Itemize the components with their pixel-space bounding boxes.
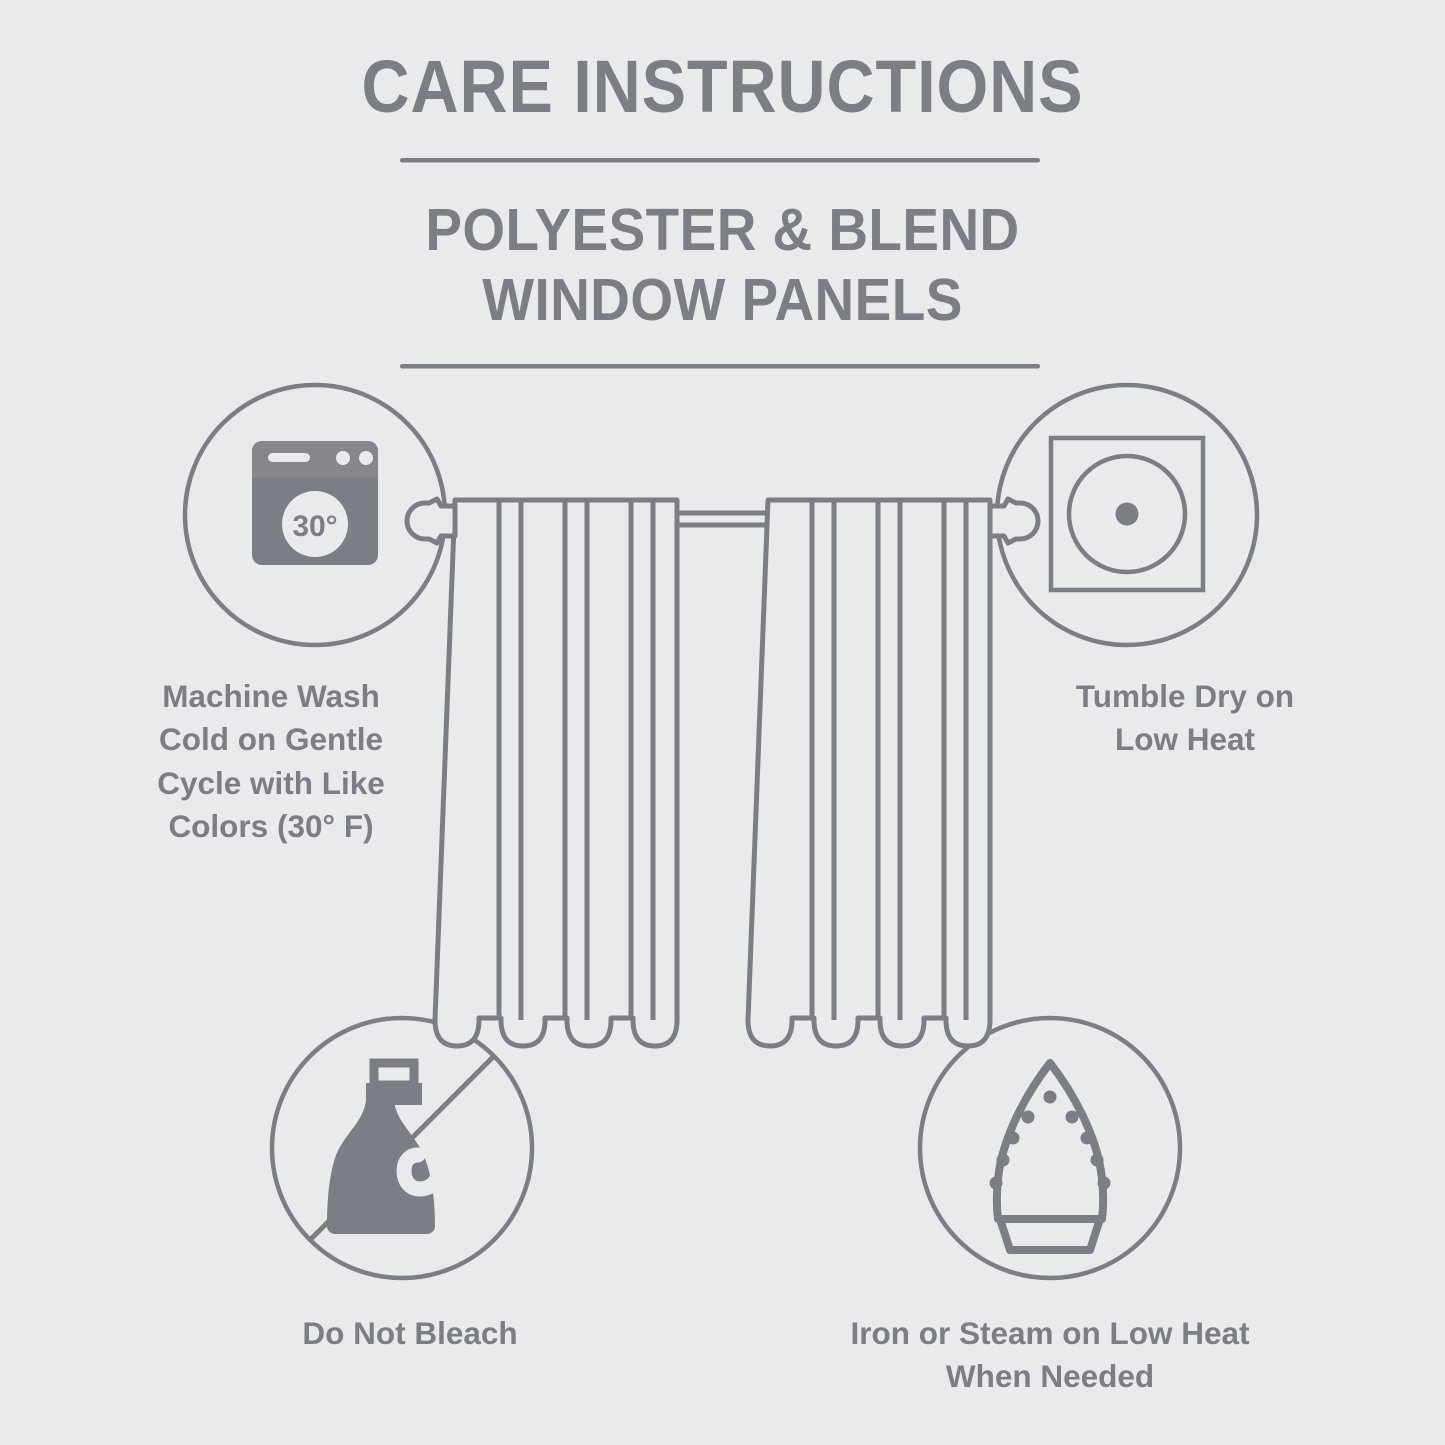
curtain-panel-left [435,500,677,1046]
wash-temperature-value: 30° [292,510,337,543]
divider-rule-bottom [400,364,1040,369]
divider-rule-top [400,158,1040,163]
iron-circle [920,1018,1180,1278]
curtain-rod [676,513,770,525]
curtain-panel-right [748,500,990,1046]
washing-machine-icon: 30° [252,441,378,565]
window-panels-illustration [407,499,1038,1046]
curtain-finial-left [407,499,455,543]
care-instructions-infographic: CARE INSTRUCTIONS POLYESTER & BLEND WIND… [0,0,1445,1445]
curtain-finial-right [990,499,1038,543]
tumble-dry-icon [1051,438,1203,590]
no-bleach-icon [310,1055,495,1240]
iron-icon [990,1063,1111,1250]
